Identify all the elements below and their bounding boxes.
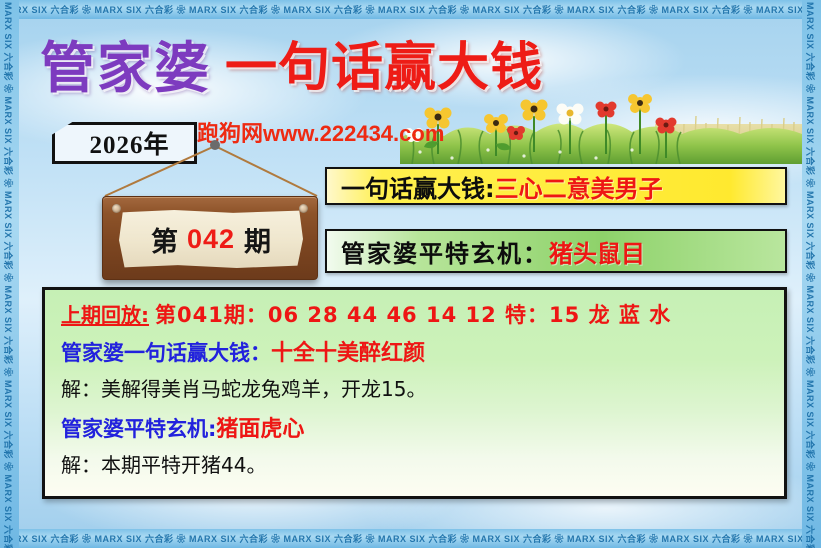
- row2-explain-text: 解：本期平特开猪44。: [61, 449, 266, 478]
- row-pingte-xuanji: 管家婆平特玄机: 猪面虎心: [61, 411, 784, 449]
- banner-pingte-xuanji: 管家婆平特玄机： 猪头鼠目: [325, 229, 787, 273]
- border-right-text: MARX SIX 六合彩 ❀ MARX SIX 六合彩 ❀ MARX SIX 六…: [804, 2, 817, 548]
- banner-yellow-label: 一句话赢大钱:: [341, 169, 495, 204]
- poster-page: 管家婆 一句话赢大钱 跑狗网www.222434.com 2026年 第 042…: [0, 0, 821, 548]
- header-title-row: 管家婆 一句话赢大钱: [40, 28, 740, 108]
- row2-value: 猪面虎心: [216, 411, 304, 443]
- row1-value: 十全十美醉红颜: [271, 335, 425, 367]
- banner-green-label: 管家婆平特玄机：: [341, 234, 549, 269]
- border-top: MARX SIX 六合彩 ❀ MARX SIX 六合彩 ❀ MARX SIX 六…: [0, 0, 821, 19]
- border-right: MARX SIX 六合彩 ❀ MARX SIX 六合彩 ❀ MARX SIX 六…: [802, 0, 821, 548]
- banner-one-sentence: 一句话赢大钱: 三心二意美男子: [325, 167, 787, 205]
- row2-label: 管家婆平特玄机:: [61, 413, 216, 443]
- row-one-sentence: 管家婆一句话赢大钱： 十全十美醉红颜: [61, 335, 784, 373]
- page-title-brand: 管家婆: [40, 41, 211, 96]
- row-previous-replay: 上期回放: 第041期：06 28 44 46 14 12 特：15 龙 蓝 水: [61, 299, 784, 335]
- banner-green-value: 猪头鼠目: [549, 234, 645, 269]
- row1-label: 管家婆一句话赢大钱：: [61, 337, 271, 367]
- replay-label: 上期回放:: [61, 299, 149, 328]
- issue-suffix: 期: [244, 220, 271, 259]
- row-one-sentence-explain: 解：美解得美肖马蛇龙兔鸡羊，开龙15。: [61, 373, 784, 411]
- banner-yellow-value: 三心二意美男子: [495, 169, 663, 204]
- content-panel: 上期回放: 第041期：06 28 44 46 14 12 特：15 龙 蓝 水…: [42, 287, 787, 499]
- border-top-text: MARX SIX 六合彩 ❀ MARX SIX 六合彩 ❀ MARX SIX 六…: [0, 3, 821, 16]
- border-left: MARX SIX 六合彩 ❀ MARX SIX 六合彩 ❀ MARX SIX 六…: [0, 0, 19, 548]
- issue-wood-sign: 第 042 期: [102, 196, 318, 280]
- replay-value: 第041期：06 28 44 46 14 12 特：15 龙 蓝 水: [155, 299, 671, 329]
- issue-number: 042: [187, 224, 235, 255]
- border-bottom: MARX SIX 六合彩 ❀ MARX SIX 六合彩 ❀ MARX SIX 六…: [0, 529, 821, 548]
- row1-explain-text: 解：美解得美肖马蛇龙兔鸡羊，开龙15。: [61, 373, 426, 402]
- row-pingte-explain: 解：本期平特开猪44。: [61, 449, 784, 487]
- border-bottom-text: MARX SIX 六合彩 ❀ MARX SIX 六合彩 ❀ MARX SIX 六…: [0, 532, 821, 545]
- border-left-text: MARX SIX 六合彩 ❀ MARX SIX 六合彩 ❀ MARX SIX 六…: [2, 2, 15, 548]
- issue-sign-paper: 第 042 期: [119, 210, 303, 268]
- issue-prefix: 第: [151, 220, 178, 259]
- page-title-slogan: 一句话赢大钱: [225, 42, 543, 94]
